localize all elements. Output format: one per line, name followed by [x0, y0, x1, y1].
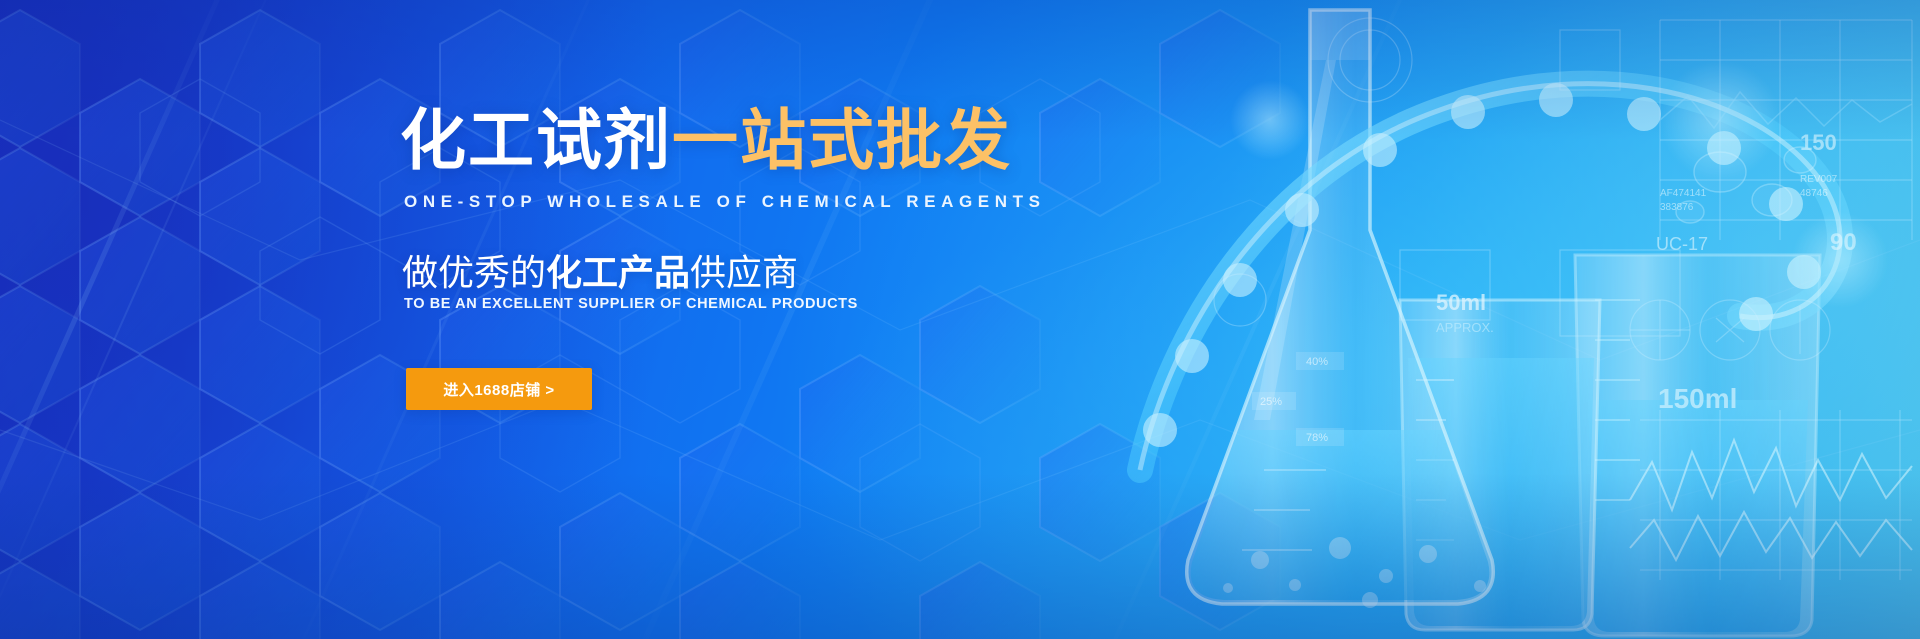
- headline-orange-part: 一站式批发: [672, 103, 1012, 177]
- banner-content: 化工试剂一站式批发 ONE-STOP WHOLESALE OF CHEMICAL…: [0, 0, 1920, 639]
- hero-banner: 150ml 50ml APPROX.: [0, 0, 1920, 639]
- secondary-title-bold: 化工产品: [546, 252, 690, 293]
- secondary-subtitle-english: TO BE AN EXCELLENT SUPPLIER OF CHEMICAL …: [404, 296, 858, 312]
- secondary-title-light-b: 供应商: [690, 252, 798, 293]
- headline-white-part: 化工试剂: [400, 103, 672, 177]
- secondary-title-light-a: 做优秀的: [402, 252, 546, 293]
- page-title: 化工试剂一站式批发: [400, 107, 1012, 173]
- subtitle-english: ONE-STOP WHOLESALE OF CHEMICAL REAGENTS: [404, 192, 1046, 212]
- enter-1688-shop-button[interactable]: 进入1688店铺 >: [406, 368, 592, 410]
- secondary-title: 做优秀的化工产品供应商: [402, 255, 798, 291]
